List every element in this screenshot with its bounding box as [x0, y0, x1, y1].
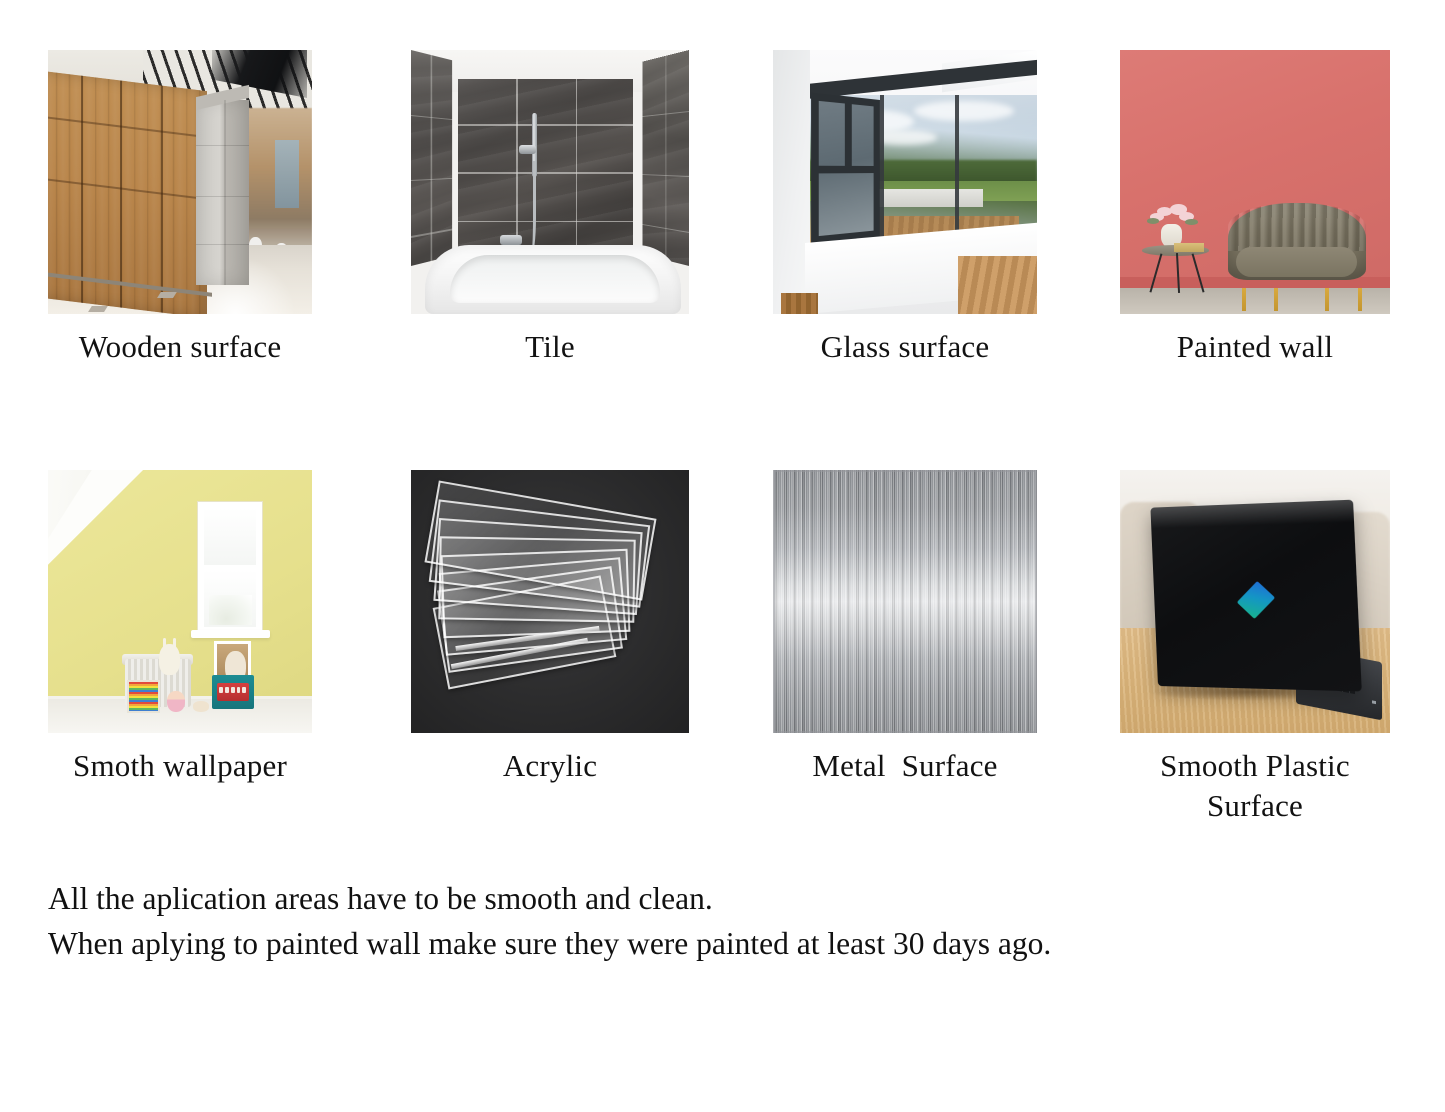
bathtub [425, 245, 681, 314]
poster-sheet: Wooden surface [0, 0, 1445, 1112]
caption-acrylic: Acrylic [373, 746, 727, 786]
abacus-toy [127, 680, 160, 713]
small-toy [193, 701, 209, 712]
table-legs [1155, 253, 1198, 293]
right-tile-wall [642, 50, 689, 266]
chair-leg [1274, 288, 1278, 312]
caption-wooden-surface: Wooden surface [4, 327, 356, 367]
image-smooth-wallpaper [48, 470, 312, 733]
application-note: All the aplication areas have to be smoo… [48, 877, 1388, 966]
armchair [1228, 203, 1366, 280]
left-tile-wall [411, 50, 452, 266]
image-wooden-surface [48, 50, 312, 314]
chair-leg [1325, 288, 1329, 312]
bunny-toy [159, 644, 180, 676]
window-sill [191, 630, 270, 638]
bath-mixer-tap [500, 235, 522, 246]
shower-hose [524, 161, 537, 256]
image-metal-surface [773, 470, 1037, 733]
image-smooth-plastic-surface [1120, 470, 1390, 733]
sheet-border [773, 470, 1037, 733]
caption-metal-surface: Metal Surface [729, 746, 1081, 786]
concrete-column [196, 100, 249, 285]
window [198, 502, 261, 634]
back-tile-wall [458, 79, 633, 259]
wooden-deck [958, 256, 1037, 314]
caption-painted-wall: Painted wall [1080, 327, 1430, 367]
doll-toy [167, 691, 185, 712]
image-painted-wall [1120, 50, 1390, 314]
caption-smooth-wallpaper: Smoth wallpaper [4, 746, 356, 786]
side-window [811, 93, 880, 246]
caption-smooth-plastic-surface: Smooth Plastic Surface [1080, 746, 1430, 825]
brand-logo-icon [1237, 580, 1275, 618]
caption-glass-surface: Glass surface [729, 327, 1081, 367]
laptop-lid [1150, 499, 1362, 691]
caption-tile: Tile [373, 327, 727, 367]
red-bus-toy [217, 683, 249, 701]
shower-head [519, 145, 536, 154]
image-glass-surface [773, 50, 1037, 314]
book [1174, 243, 1204, 252]
image-tile [411, 50, 689, 314]
image-acrylic [411, 470, 689, 733]
chair-leg [1242, 288, 1246, 312]
wooden-deck-left [781, 293, 818, 314]
background-glass [275, 140, 299, 209]
chair-leg [1358, 288, 1362, 312]
